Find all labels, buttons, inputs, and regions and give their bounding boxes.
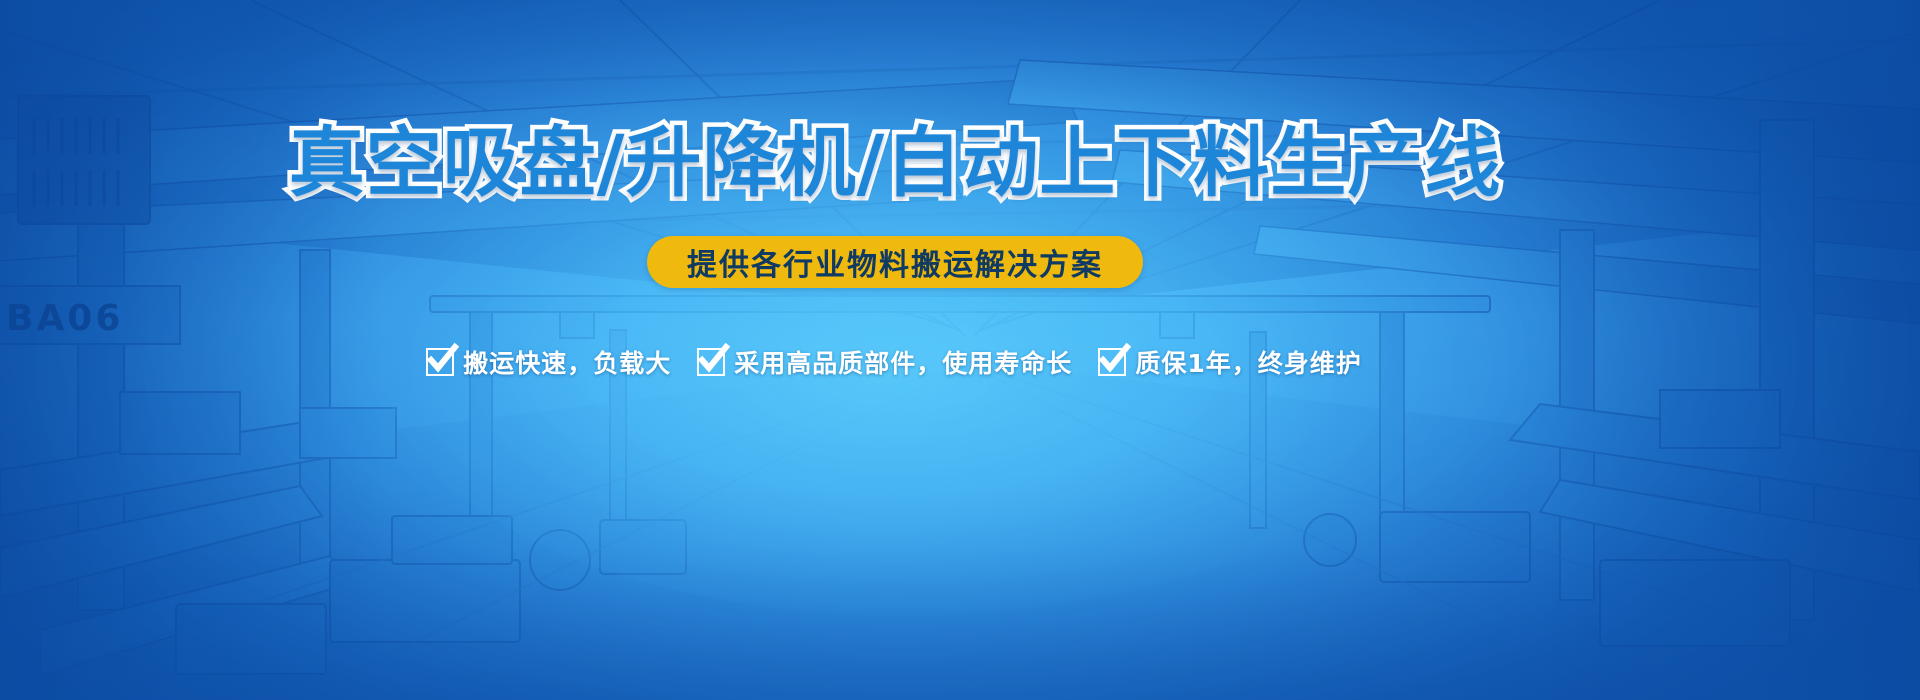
- feature-label: 搬运快速，负载大: [463, 344, 671, 380]
- checkbox-checked-icon: [697, 348, 725, 376]
- feature-label: 采用高品质部件，使用寿命长: [734, 344, 1072, 380]
- feature-list: 搬运快速，负载大 采用高品质部件，使用寿命长 质保1年，终身维护: [0, 344, 1920, 380]
- checkbox-checked-icon: [426, 348, 454, 376]
- promo-banner: BA06: [0, 0, 1920, 700]
- feature-item: 采用高品质部件，使用寿命长: [697, 344, 1072, 380]
- checkbox-checked-icon: [1098, 348, 1126, 376]
- feature-label: 质保1年，终身维护: [1135, 344, 1361, 380]
- banner-headline: 真空吸盘/升降机/自动上下料生产线: [0, 122, 1920, 204]
- badge-row: 提供各行业物料搬运解决方案: [0, 236, 1920, 288]
- feature-item: 质保1年，终身维护: [1098, 344, 1361, 380]
- feature-item: 搬运快速，负载大: [426, 344, 671, 380]
- banner-content: 真空吸盘/升降机/自动上下料生产线 提供各行业物料搬运解决方案 搬运快速，负载大: [0, 0, 1920, 700]
- tagline-badge: 提供各行业物料搬运解决方案: [647, 236, 1143, 288]
